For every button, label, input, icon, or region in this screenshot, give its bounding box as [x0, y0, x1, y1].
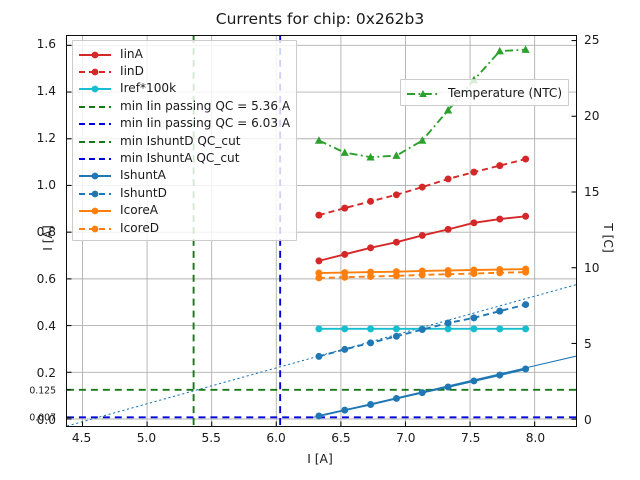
- y2-tick-label: 25: [584, 33, 600, 47]
- legend-label: IinA: [120, 48, 143, 60]
- y-tick-label: 1.4: [37, 84, 56, 98]
- chart-figure: Currents for chip: 0x262b3 4.55.05.56.06…: [0, 0, 640, 480]
- series-marker: [445, 384, 452, 391]
- legend-item[interactable]: IcoreA: [78, 202, 290, 219]
- legend-item[interactable]: min IshuntA QC_cut: [78, 149, 290, 166]
- x-tick-label: 5.5: [202, 431, 221, 445]
- series-marker: [315, 325, 322, 332]
- series-marker: [392, 151, 400, 159]
- legend-line-sample: [78, 168, 112, 182]
- legend-label: min Iin passing QC = 5.36 A: [120, 100, 290, 112]
- legend-label: min Iin passing QC = 6.03 A: [120, 117, 290, 129]
- legend-line-sample: [78, 116, 112, 130]
- legend-item[interactable]: IshuntD: [78, 184, 290, 201]
- series-marker: [522, 301, 529, 308]
- legend-label: Temperature (NTC): [448, 87, 562, 99]
- legend-swatch: [78, 65, 112, 79]
- x-tick-label: 4.5: [72, 431, 91, 445]
- y-tick-label: 1.6: [37, 37, 56, 51]
- x-tick-label: 8.0: [526, 431, 545, 445]
- series-marker: [367, 401, 374, 408]
- y2-axis-title: T [C]: [601, 178, 615, 298]
- y2-tick-label: 20: [584, 109, 600, 123]
- series-marker: [367, 273, 374, 280]
- x-axis-title: I [A]: [0, 452, 640, 466]
- series-marker: [367, 339, 374, 346]
- series-marker: [341, 251, 348, 258]
- legend-swatch: [78, 82, 112, 96]
- series-marker: [418, 136, 426, 144]
- series-marker: [393, 325, 400, 332]
- legend-item-temperature[interactable]: Temperature (NTC): [406, 84, 562, 101]
- legend-line-sample: [406, 86, 440, 100]
- legend-item[interactable]: min IshuntD QC_cut: [78, 132, 290, 149]
- series-marker: [522, 213, 529, 220]
- series-marker: [470, 314, 477, 321]
- series-marker: [315, 353, 322, 360]
- legend-swatch: [78, 135, 112, 149]
- y-axis-title: I [A]: [41, 178, 55, 298]
- legend-line-sample: [78, 81, 112, 95]
- x-tick-label: 6.5: [331, 431, 350, 445]
- series-marker: [470, 325, 477, 332]
- legend-swatch: [78, 222, 112, 236]
- series-marker: [341, 407, 348, 414]
- series-marker: [419, 326, 426, 333]
- series-marker: [496, 216, 503, 223]
- series-marker: [393, 333, 400, 340]
- x-tick-label: 7.0: [396, 431, 415, 445]
- legend-swatch: [78, 100, 112, 114]
- legend-label: Iref*100k: [120, 82, 176, 94]
- series-marker: [393, 272, 400, 279]
- series-marker: [445, 226, 452, 233]
- legend-line-sample: [78, 203, 112, 217]
- series-marker: [496, 325, 503, 332]
- legend-item[interactable]: IshuntA: [78, 167, 290, 184]
- legend-item[interactable]: IinD: [78, 62, 290, 79]
- legend-label: IshuntD: [120, 187, 167, 199]
- series-marker: [341, 346, 348, 353]
- series-marker: [315, 212, 322, 219]
- series-marker: [470, 377, 477, 384]
- y-tick-label: 0.4: [37, 319, 56, 333]
- series-marker: [419, 232, 426, 239]
- legend-swatch: [78, 187, 112, 201]
- y-tick-label: 0.2: [37, 366, 56, 380]
- legend-item[interactable]: Iref*100k: [78, 80, 290, 97]
- series-marker: [496, 162, 503, 169]
- series-marker: [341, 274, 348, 281]
- series-marker: [419, 389, 426, 396]
- legend-label: IinD: [120, 65, 144, 77]
- legend-item[interactable]: min Iin passing QC = 6.03 A: [78, 115, 290, 132]
- legend-label: min IshuntD QC_cut: [120, 135, 240, 147]
- series-marker: [496, 308, 503, 315]
- legend-line-sample: [78, 134, 112, 148]
- series-marker: [341, 148, 349, 156]
- x-tick-label: 5.0: [137, 431, 156, 445]
- series-marker: [315, 412, 322, 419]
- legend-label: min IshuntA QC_cut: [120, 152, 239, 164]
- legend-line-sample: [78, 47, 112, 61]
- legend-swatch: [78, 117, 112, 131]
- series-marker: [367, 244, 374, 251]
- series-marker: [393, 191, 400, 198]
- legend-swatch: [78, 48, 112, 62]
- y2-tick-label: 10: [584, 261, 600, 275]
- series-marker: [419, 271, 426, 278]
- legend-line-sample: [78, 221, 112, 235]
- x-tick-label: 7.5: [461, 431, 480, 445]
- y-tick-label-extra: 0.125: [29, 385, 56, 396]
- y2-tick-label: 0: [584, 413, 592, 427]
- legend-line-sample: [78, 151, 112, 165]
- legend-swatch: [406, 87, 440, 101]
- legend-line-sample: [78, 64, 112, 78]
- legend-swatch: [78, 169, 112, 183]
- y2-tick-label: 5: [584, 337, 592, 351]
- series-marker: [315, 257, 322, 264]
- legend-label: IcoreA: [120, 204, 158, 216]
- series-marker: [341, 205, 348, 212]
- x-tick-label: 6.0: [266, 431, 285, 445]
- legend-line-sample: [78, 186, 112, 200]
- series-marker: [393, 239, 400, 246]
- chart-title: Currents for chip: 0x262b3: [0, 10, 640, 28]
- y-tick-label: 1.2: [37, 131, 56, 145]
- temperature-legend: Temperature (NTC): [400, 79, 569, 106]
- series-marker: [367, 325, 374, 332]
- series-marker: [367, 198, 374, 205]
- series-marker: [496, 269, 503, 276]
- series-marker: [445, 175, 452, 182]
- legend-item[interactable]: IcoreD: [78, 219, 290, 236]
- main-legend: IinAIinDIref*100kmin Iin passing QC = 5.…: [72, 40, 297, 241]
- legend-swatch: [78, 152, 112, 166]
- series-marker: [393, 395, 400, 402]
- series-marker: [522, 366, 529, 373]
- legend-swatch: [78, 204, 112, 218]
- series-marker: [419, 184, 426, 191]
- series-marker: [522, 325, 529, 332]
- series-marker: [315, 274, 322, 281]
- legend-line-sample: [78, 99, 112, 113]
- legend-label: IcoreD: [120, 222, 159, 234]
- series-marker: [445, 320, 452, 327]
- y2-tick-label: 15: [584, 185, 600, 199]
- series-marker: [496, 47, 504, 55]
- series-marker: [470, 270, 477, 277]
- series-marker: [315, 136, 323, 144]
- legend-item[interactable]: min Iin passing QC = 5.36 A: [78, 97, 290, 114]
- series-marker: [445, 271, 452, 278]
- legend-item[interactable]: IinA: [78, 45, 290, 62]
- series-marker: [522, 156, 529, 163]
- series-marker: [470, 219, 477, 226]
- series-marker: [496, 372, 503, 379]
- y-tick-label-extra: 0.007: [29, 413, 56, 424]
- series-marker: [470, 169, 477, 176]
- series-marker: [522, 269, 529, 276]
- series-marker: [341, 325, 348, 332]
- legend-label: IshuntA: [120, 169, 166, 181]
